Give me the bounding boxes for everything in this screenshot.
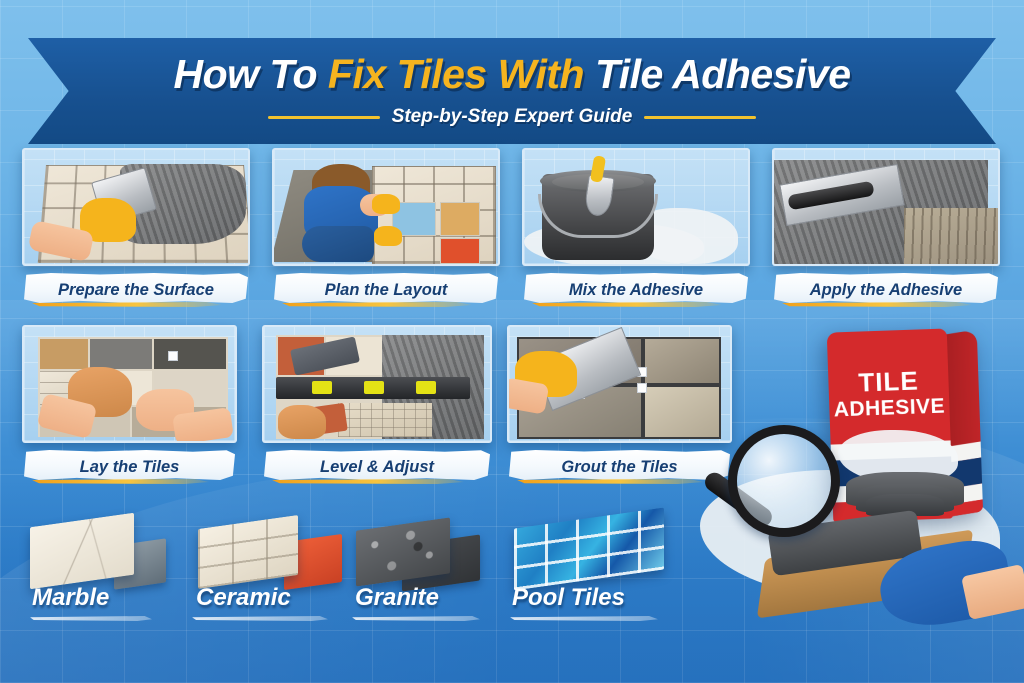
step-7-label-text: Grout the Tiles [507,450,732,484]
step-card-5[interactable]: Lay the Tiles [22,325,237,484]
tile-sample-ceramic[interactable] [190,512,350,588]
step-2-label-text: Plan the Layout [272,273,500,307]
step-card-3[interactable]: Mix the Adhesive [522,148,750,307]
step-card-7[interactable]: Grout the Tiles [507,325,732,484]
subtitle-rule-left [268,116,380,119]
step-card-1[interactable]: Prepare the Surface [22,148,250,307]
step-4-label-text: Apply the Adhesive [772,273,1000,307]
step-7-image [507,325,732,443]
step-2-label: Plan the Layout [272,273,500,307]
page-subtitle: Step-by-Step Expert Guide [392,106,633,128]
step-6-label-text: Level & Adjust [262,450,492,484]
step-3-image [522,148,750,266]
step-5-label-text: Lay the Tiles [22,450,237,484]
tile-sample-pool-label: Pool Tiles [512,584,625,612]
step-card-6[interactable]: Level & Adjust [262,325,492,484]
step-card-2[interactable]: Plan the Layout [272,148,500,307]
tile-sample-marble-label: Marble [32,584,109,612]
step-1-image [22,148,250,266]
step-7-label: Grout the Tiles [507,450,732,484]
title-part-1: How To [174,51,328,97]
step-6-label: Level & Adjust [262,450,492,484]
bag-title-line-2: ADHESIVE [829,394,950,422]
step-1-label-text: Prepare the Surface [22,273,250,307]
step-3-label-text: Mix the Adhesive [522,273,750,307]
page-title: How To Fix Tiles With Tile Adhesive [174,54,851,95]
tile-sample-ceramic-label: Ceramic [196,584,291,612]
step-5-label: Lay the Tiles [22,450,237,484]
subtitle-row: Step-by-Step Expert Guide [268,106,757,128]
step-6-image [262,325,492,443]
step-2-image [272,148,500,266]
tile-sample-granite[interactable] [350,512,510,588]
step-card-4[interactable]: Apply the Adhesive [772,148,1000,307]
magnifying-glass [700,425,840,565]
step-4-label: Apply the Adhesive [772,273,1000,307]
infographic-canvas: How To Fix Tiles With Tile Adhesive Step… [0,0,1024,683]
tile-sample-marble[interactable] [30,512,180,588]
step-4-image [772,148,1000,266]
title-part-2: Tile Adhesive [584,51,850,97]
step-1-label: Prepare the Surface [22,273,250,307]
step-5-image [22,325,237,443]
title-banner: How To Fix Tiles With Tile Adhesive Step… [28,38,996,144]
step-3-label: Mix the Adhesive [522,273,750,307]
magnifier-lens [728,425,840,537]
subtitle-rule-right [644,116,756,119]
title-highlight: Fix Tiles With [328,51,584,97]
tile-sample-granite-label: Granite [355,584,439,612]
tile-sample-pool[interactable] [508,508,678,588]
